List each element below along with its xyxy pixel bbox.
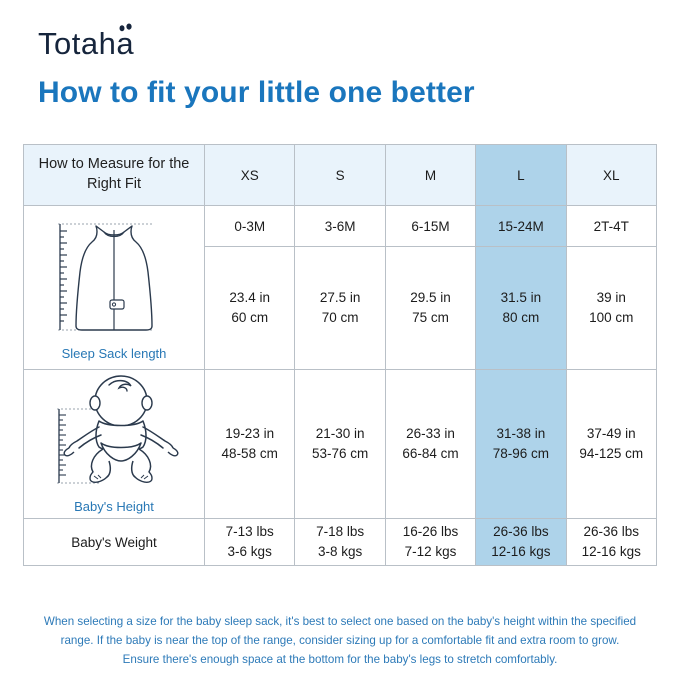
length-value-m-cm: 75 cm	[386, 308, 475, 328]
size-header-xs: XS	[205, 145, 295, 206]
height-value-m-in: 26-33 in	[386, 424, 475, 444]
label-column-header: How to Measure for the Right Fit	[24, 145, 205, 206]
height-value-l: 31-38 in 78-96 cm	[476, 370, 566, 519]
length-value-s: 27.5 in 70 cm	[295, 247, 385, 370]
length-value-m-in: 29.5 in	[386, 288, 475, 308]
baby-illustration-cell: Baby's Height	[24, 370, 205, 519]
table-header-row: How to Measure for the Right Fit XS S M …	[24, 145, 657, 206]
length-value-l-cm: 80 cm	[476, 308, 565, 328]
sleep-sack-illustration: Sleep Sack length	[24, 214, 204, 361]
table-row-age: Sleep Sack length 0-3M 3-6M 6-15M 15-24M…	[24, 206, 657, 247]
age-value-l: 15-24M	[476, 206, 566, 247]
weight-value-xl-kgs: 12-16 kgs	[567, 542, 656, 562]
weight-value-xs-lbs: 7-13 lbs	[205, 522, 294, 542]
height-value-l-cm: 78-96 cm	[476, 444, 565, 464]
length-value-l: 31.5 in 80 cm	[476, 247, 566, 370]
size-header-s: S	[295, 145, 385, 206]
sizing-guidance-note: When selecting a size for the baby sleep…	[24, 612, 656, 669]
brand-logo-accent-letter: a	[116, 28, 134, 59]
height-value-l-in: 31-38 in	[476, 424, 565, 444]
height-value-xs: 19-23 in 48-58 cm	[205, 370, 295, 519]
weight-value-l: 26-36 lbs 12-16 kgs	[476, 519, 566, 566]
brand-logo-text: Totah	[38, 26, 116, 61]
length-value-m: 29.5 in 75 cm	[385, 247, 475, 370]
baby-weight-label: Baby's Weight	[24, 519, 205, 566]
height-value-s: 21-30 in 53-76 cm	[295, 370, 385, 519]
sizing-note-line-3: Ensure there's enough space at the botto…	[24, 650, 656, 669]
age-value-s: 3-6M	[295, 206, 385, 247]
weight-value-l-kgs: 12-16 kgs	[476, 542, 565, 562]
weight-value-s-lbs: 7-18 lbs	[295, 522, 384, 542]
table-row-baby-height: Baby's Height 19-23 in 48-58 cm 21-30 in…	[24, 370, 657, 519]
baby-illustration: Baby's Height	[24, 375, 204, 514]
length-value-xs: 23.4 in 60 cm	[205, 247, 295, 370]
size-chart-table: How to Measure for the Right Fit XS S M …	[23, 144, 657, 566]
height-value-xs-cm: 48-58 cm	[205, 444, 294, 464]
toe-dots-icon	[117, 23, 139, 32]
weight-value-xl: 26-36 lbs 12-16 kgs	[566, 519, 656, 566]
length-value-xs-in: 23.4 in	[205, 288, 294, 308]
height-value-xl-cm: 94-125 cm	[567, 444, 656, 464]
length-value-xl-in: 39 in	[567, 288, 656, 308]
height-value-s-in: 21-30 in	[295, 424, 384, 444]
height-value-s-cm: 53-76 cm	[295, 444, 384, 464]
sleep-sack-illustration-cell: Sleep Sack length	[24, 206, 205, 370]
weight-value-m-kgs: 7-12 kgs	[386, 542, 475, 562]
weight-value-xs-kgs: 3-6 kgs	[205, 542, 294, 562]
size-header-m: M	[385, 145, 475, 206]
weight-value-s: 7-18 lbs 3-8 kgs	[295, 519, 385, 566]
length-value-xl: 39 in 100 cm	[566, 247, 656, 370]
length-value-xl-cm: 100 cm	[567, 308, 656, 328]
weight-value-s-kgs: 3-8 kgs	[295, 542, 384, 562]
sizing-note-line-2: range. If the baby is near the top of th…	[24, 631, 656, 650]
height-value-m: 26-33 in 66-84 cm	[385, 370, 475, 519]
length-value-l-in: 31.5 in	[476, 288, 565, 308]
height-value-m-cm: 66-84 cm	[386, 444, 475, 464]
table-row-baby-weight: Baby's Weight 7-13 lbs 3-6 kgs 7-18 lbs …	[24, 519, 657, 566]
baby-icon	[29, 375, 199, 497]
size-header-xl: XL	[566, 145, 656, 206]
size-chart-page: Totaha How to fit your little one better…	[0, 0, 679, 679]
age-value-xs: 0-3M	[205, 206, 295, 247]
age-value-xl: 2T-4T	[566, 206, 656, 247]
weight-value-xl-lbs: 26-36 lbs	[567, 522, 656, 542]
weight-value-l-lbs: 26-36 lbs	[476, 522, 565, 542]
height-value-xs-in: 19-23 in	[205, 424, 294, 444]
weight-value-m: 16-26 lbs 7-12 kgs	[385, 519, 475, 566]
length-value-s-in: 27.5 in	[295, 288, 384, 308]
length-value-s-cm: 70 cm	[295, 308, 384, 328]
sizing-note-line-1: When selecting a size for the baby sleep…	[24, 612, 656, 631]
weight-value-m-lbs: 16-26 lbs	[386, 522, 475, 542]
age-value-m: 6-15M	[385, 206, 475, 247]
size-header-l: L	[476, 145, 566, 206]
length-value-xs-cm: 60 cm	[205, 308, 294, 328]
weight-value-xs: 7-13 lbs 3-6 kgs	[205, 519, 295, 566]
height-value-xl-in: 37-49 in	[567, 424, 656, 444]
baby-height-caption: Baby's Height	[74, 499, 154, 514]
sleep-sack-length-caption: Sleep Sack length	[62, 346, 167, 361]
size-chart-table-wrapper: How to Measure for the Right Fit XS S M …	[23, 144, 656, 566]
page-title: How to fit your little one better	[38, 76, 475, 110]
height-value-xl: 37-49 in 94-125 cm	[566, 370, 656, 519]
sleep-sack-icon	[34, 214, 194, 344]
brand-logo: Totaha	[38, 28, 134, 59]
